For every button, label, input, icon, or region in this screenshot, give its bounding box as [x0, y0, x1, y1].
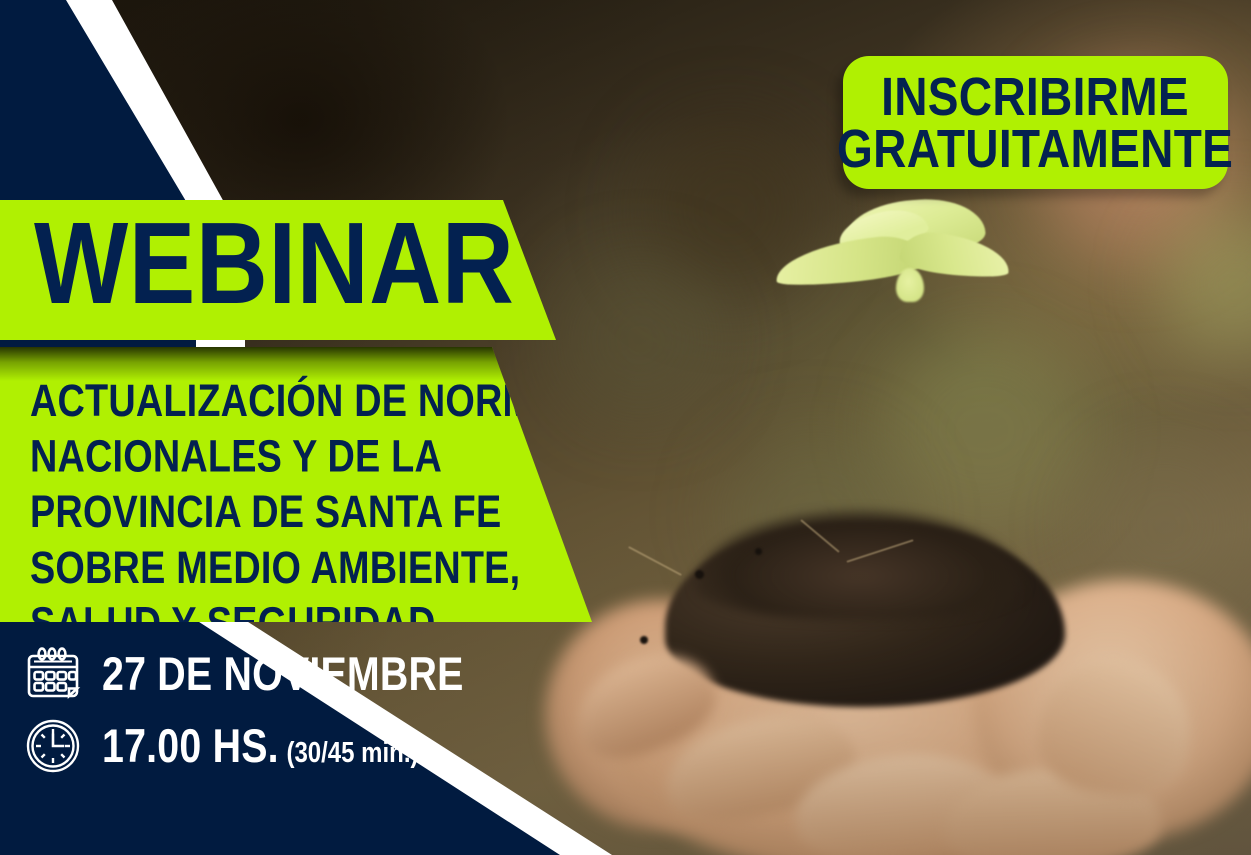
- soil-speck: [755, 548, 762, 555]
- soil-speck: [695, 570, 704, 579]
- subtitle-text: ACTUALIZACIÓN DE NORMAS NACIONALES Y DE …: [30, 374, 587, 652]
- subtitle-line-4: SOBRE MEDIO AMBIENTE,: [30, 541, 587, 597]
- subtitle-line-1: ACTUALIZACIÓN DE NORMAS: [30, 374, 587, 430]
- event-date-row: 27 DE NOVIEMBRE: [22, 638, 492, 710]
- subtitle-line-3: PROVINCIA DE SANTA FE: [30, 485, 587, 541]
- event-time-row: 17.00 HS.(30/45 min.): [22, 710, 492, 782]
- event-time-value: 17.00 HS.: [102, 719, 279, 772]
- page-title: WEBINAR: [34, 206, 514, 322]
- bokeh-light: [560, 260, 720, 420]
- root-strand: [628, 546, 682, 576]
- register-button[interactable]: INSCRIBIRME GRATUITAMENTE: [843, 56, 1228, 189]
- webinar-banner: WEBINAR: [0, 200, 560, 340]
- event-details: 27 DE NOVIEMBRE 17.00: [22, 638, 492, 782]
- soil-speck: [640, 636, 648, 644]
- clock-icon: [22, 715, 84, 777]
- webinar-poster: WEBINAR ACTUALIZACIÓN DE NORMAS NACIONAL…: [0, 0, 1251, 855]
- calendar-icon: [22, 643, 84, 705]
- event-date: 27 DE NOVIEMBRE: [102, 647, 464, 702]
- event-time: 17.00 HS.(30/45 min.): [102, 719, 419, 774]
- event-duration-note: (30/45 min.): [286, 736, 418, 768]
- subtitle-line-2: NACIONALES Y DE LA: [30, 430, 587, 486]
- cupped-hands: [545, 540, 1251, 855]
- register-button-line-2: GRATUITAMENTE: [837, 119, 1233, 178]
